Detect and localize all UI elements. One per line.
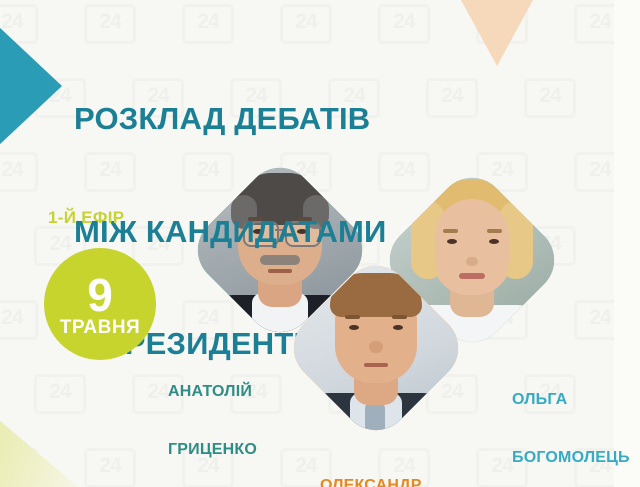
date-month: ТРАВНЯ — [60, 317, 140, 339]
candidate-name-klymenko: ОЛЕКСАНДР КЛИМЕНКО — [320, 438, 422, 487]
date-badge: 9 ТРАВНЯ — [44, 248, 156, 360]
watermark-logo: 24 — [0, 300, 38, 340]
watermark-logo: 24 — [84, 448, 136, 487]
headline-line-1: РОЗКЛАД ДЕБАТІВ — [74, 100, 395, 138]
candidate-portrait — [308, 280, 444, 416]
date-day: 9 — [87, 275, 113, 315]
candidate-name-bogomolets: ОЛЬГА БОГОМОЛЕЦЬ — [512, 352, 630, 487]
candidate-first-name: ОЛЬГА — [512, 390, 630, 409]
left-arrow-decoration — [0, 26, 62, 146]
candidate-name-gritsenko: АНАТОЛІЙ ГРИЦЕНКО — [168, 344, 257, 487]
candidate-first-name: АНАТОЛІЙ — [168, 382, 257, 401]
photo-frame-diamond — [280, 252, 472, 444]
top-triangle-decoration — [437, 0, 557, 66]
candidate-photo-klymenko — [308, 280, 444, 416]
candidate-last-name: БОГОМОЛЕЦЬ — [512, 448, 630, 467]
candidate-last-name: ГРИЦЕНКО — [168, 440, 257, 459]
broadcast-label: 1-Й ЕФІР — [48, 208, 124, 228]
watermark-logo: 24 — [524, 78, 576, 118]
infographic-poster: 2424242424242424242424242424242424242424… — [0, 0, 640, 487]
watermark-logo: 24 — [0, 152, 38, 192]
watermark-logo: 24 — [426, 78, 478, 118]
candidate-first-name: ОЛЕКСАНДР — [320, 476, 422, 487]
